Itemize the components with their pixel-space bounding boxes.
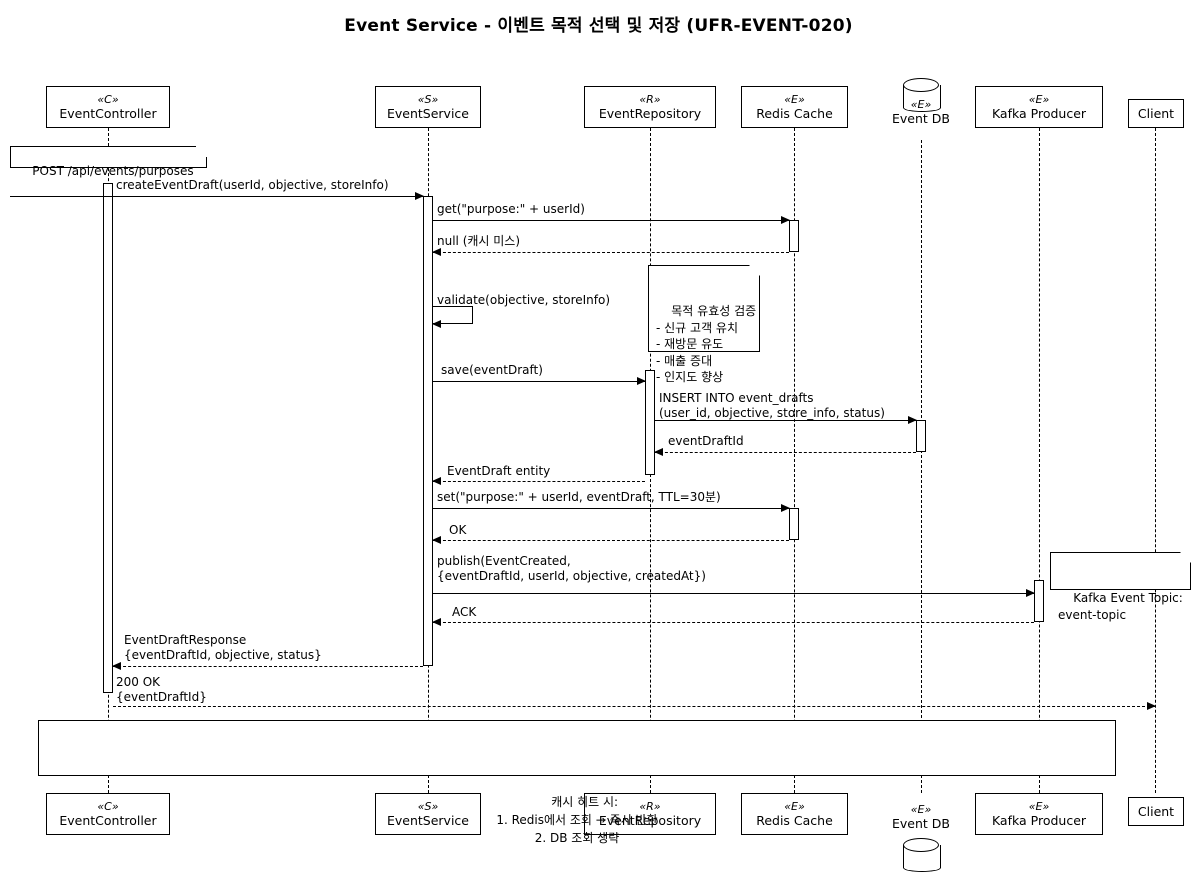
participant-name: EventController (47, 106, 169, 121)
self-message-arrow-validate (432, 320, 441, 328)
participant-stereotype: «E» (976, 93, 1102, 106)
note-kafka-topic: Kafka Event Topic: event-topic (1050, 552, 1191, 590)
participant-stereotype: «E» (742, 93, 847, 106)
participant-name: EventRepository (585, 106, 715, 121)
activation-service (423, 196, 433, 666)
message-label-eventDraftId: eventDraftId (668, 434, 744, 449)
participant-name: Client (1129, 106, 1183, 121)
diagram-title: Event Service - 이벤트 목적 선택 및 저장 (UFR-EVEN… (0, 11, 1197, 36)
participant-name: Client (1129, 804, 1183, 819)
note-validate: 목적 유효성 검증 - 신규 고객 유치 - 재방문 유도 - 매출 증대 - … (648, 265, 760, 352)
participant-name: EventService (376, 106, 480, 121)
participant-name: Event DB (892, 111, 950, 126)
participant-repository-top[interactable]: «R» EventRepository (584, 86, 716, 128)
activation-repository (645, 370, 655, 475)
participant-stereotype: «S» (376, 93, 480, 106)
participant-service-top[interactable]: «S» EventService (375, 86, 481, 128)
activation-kafka (1034, 580, 1044, 622)
message-arrow-set-purpose (781, 504, 790, 512)
message-label-insert-into: INSERT INTO event_drafts (user_id, objec… (659, 391, 885, 421)
message-arrow-ok (432, 536, 441, 544)
message-arrow-save-eventDraft (637, 377, 646, 385)
message-arrow-200ok (1147, 702, 1156, 710)
activation-redis-1 (789, 220, 799, 252)
message-line-save-eventDraft (433, 381, 645, 382)
message-label-ok: OK (449, 523, 466, 538)
message-arrow-eventdraftresponse (112, 662, 121, 670)
message-line-get-purpose (433, 220, 789, 221)
message-line-null-cache-miss (433, 252, 789, 253)
note-kafka-topic-text: Kafka Event Topic: event-topic (1058, 591, 1183, 622)
message-line-createEventDraft (10, 196, 424, 197)
message-line-publish (433, 593, 1034, 594)
note-validate-text: 목적 유효성 검증 - 신규 고객 유치 - 재방문 유도 - 매출 증대 - … (656, 304, 756, 384)
activation-controller (103, 183, 113, 693)
sequence-diagram-canvas: Event Service - 이벤트 목적 선택 및 저장 (UFR-EVEN… (0, 0, 1197, 885)
message-arrow-eventdraft-entity (432, 477, 441, 485)
message-arrow-get-purpose (781, 216, 790, 224)
start-message-fold (196, 146, 207, 157)
message-line-ack (433, 622, 1034, 623)
participant-eventdb-top-label: «E» Event DB (861, 98, 981, 126)
message-label-200ok: 200 OK {eventDraftId} (116, 675, 207, 705)
participant-stereotype: «C» (47, 93, 169, 106)
message-line-200ok (113, 706, 1155, 707)
message-arrow-createEventDraft (415, 192, 424, 200)
participant-name: Redis Cache (742, 106, 847, 121)
message-label-ack: ACK (452, 605, 476, 620)
participant-client-top[interactable]: Client (1128, 99, 1184, 128)
activation-eventdb (916, 420, 926, 452)
message-label-null-cache-miss: null (캐시 미스) (437, 234, 520, 249)
message-label-get-purpose: get("purpose:" + userId) (437, 202, 585, 217)
note-cache-hit: 캐시 히트 시: 1. Redis에서 조회 → 즉시 반환 2. DB 조회 … (38, 720, 1116, 776)
message-label-save-eventDraft: save(eventDraft) (441, 363, 543, 378)
message-arrow-null-cache-miss (432, 248, 441, 256)
message-label-validate: validate(objective, storeInfo) (437, 293, 610, 308)
participant-stereotype: «R» (585, 93, 715, 106)
participant-name: Kafka Producer (976, 106, 1102, 121)
message-arrow-insert-into (908, 416, 917, 424)
start-message-text: POST /api/events/purposes (32, 164, 193, 178)
lifeline-eventdb (921, 140, 922, 793)
message-label-eventdraftresponse: EventDraftResponse {eventDraftId, object… (124, 633, 322, 663)
message-line-eventdraft-entity (433, 481, 645, 482)
message-arrow-publish (1026, 589, 1035, 597)
message-label-publish: publish(EventCreated, {eventDraftId, use… (437, 554, 706, 584)
start-message-label: POST /api/events/purposes (10, 146, 207, 168)
participant-stereotype: «E» (861, 98, 981, 111)
message-line-eventDraftId (655, 452, 916, 453)
message-label-set-purpose: set("purpose:" + userId, eventDraft, TTL… (437, 490, 721, 505)
lifeline-client (1155, 128, 1156, 793)
message-label-createEventDraft: createEventDraft(userId, objective, stor… (116, 178, 389, 193)
participant-controller-top[interactable]: «C» EventController (46, 86, 170, 128)
message-arrow-eventDraftId (654, 448, 663, 456)
activation-redis-2 (789, 508, 799, 540)
participant-redis-top[interactable]: «E» Redis Cache (741, 86, 848, 128)
message-line-set-purpose (433, 508, 789, 509)
message-line-ok (433, 540, 789, 541)
message-arrow-ack (432, 618, 441, 626)
lifeline-kafka (1039, 128, 1040, 793)
note-cache-hit-text: 캐시 히트 시: 1. Redis에서 조회 → 즉시 반환 2. DB 조회 … (496, 795, 657, 845)
message-line-eventdraftresponse (113, 666, 423, 667)
message-label-eventdraft-entity: EventDraft entity (447, 464, 550, 479)
participant-client-bottom[interactable]: Client (1128, 797, 1184, 826)
participant-kafka-top[interactable]: «E» Kafka Producer (975, 86, 1103, 128)
